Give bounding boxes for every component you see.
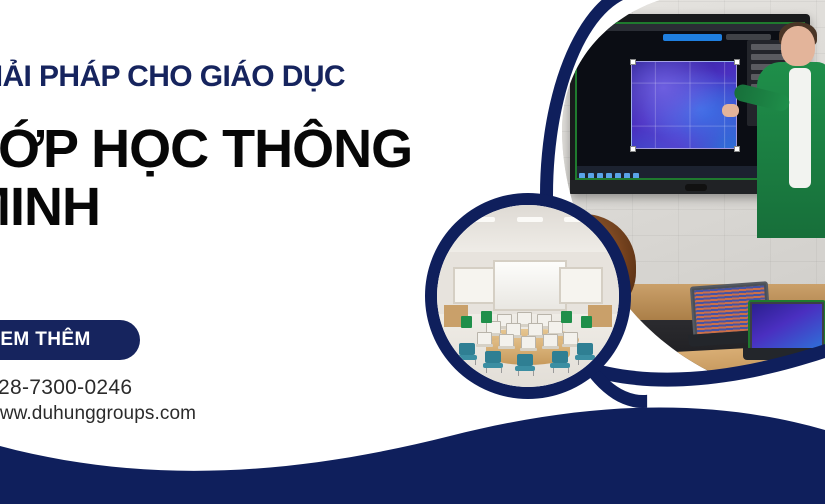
website-url[interactable]: www.duhunggroups.com [0, 403, 196, 425]
green-panel [561, 311, 572, 323]
green-panel [481, 311, 492, 323]
teacher-figure [751, 26, 825, 236]
teacher-head [781, 26, 815, 66]
selection-handle [734, 146, 740, 152]
computer-monitor [521, 336, 536, 349]
green-panel [581, 316, 592, 328]
circle-inset-photo [425, 193, 631, 399]
computer-monitor [477, 332, 492, 345]
selection-handle [734, 59, 740, 65]
whiteboard-right [559, 267, 603, 304]
camera-icon [685, 184, 707, 191]
page-title: LỚP HỌC THÔNG MINH [0, 120, 412, 236]
selection-handle [630, 146, 636, 152]
education-promo-banner: GIẢI PHÁP CHO GIÁO DỤC LỚP HỌC THÔNG MIN… [0, 0, 825, 504]
green-panel [461, 316, 472, 328]
computer-monitor [499, 334, 514, 347]
computer-classroom-scene [437, 205, 619, 387]
whiteboard-toolbar-primary [663, 34, 722, 41]
laptop-right [748, 300, 822, 364]
classroom-chair [550, 351, 570, 373]
eyebrow-text: GIẢI PHÁP CHO GIÁO DỤC [0, 60, 345, 94]
headline-line-1: LỚP HỌC THÔNG [0, 119, 412, 179]
selection-handle [630, 59, 636, 65]
ceiling [437, 205, 619, 252]
headline-line-2: MINH [0, 178, 412, 236]
classroom-chair [575, 343, 595, 365]
classroom-chair [483, 351, 503, 373]
computer-monitor [548, 321, 563, 334]
computer-monitor [528, 323, 543, 336]
computer-monitor [543, 334, 558, 347]
board-image [631, 61, 737, 149]
teacher-shirt [789, 68, 811, 188]
teacher-hand [722, 104, 739, 117]
whiteboard-left [453, 267, 497, 304]
see-more-button[interactable]: XEM THÊM [0, 320, 140, 360]
phone-number[interactable]: 028-7300-0246 [0, 376, 132, 400]
projection-screen [493, 260, 566, 311]
classroom-chair [457, 343, 477, 365]
classroom-chair [515, 354, 535, 376]
